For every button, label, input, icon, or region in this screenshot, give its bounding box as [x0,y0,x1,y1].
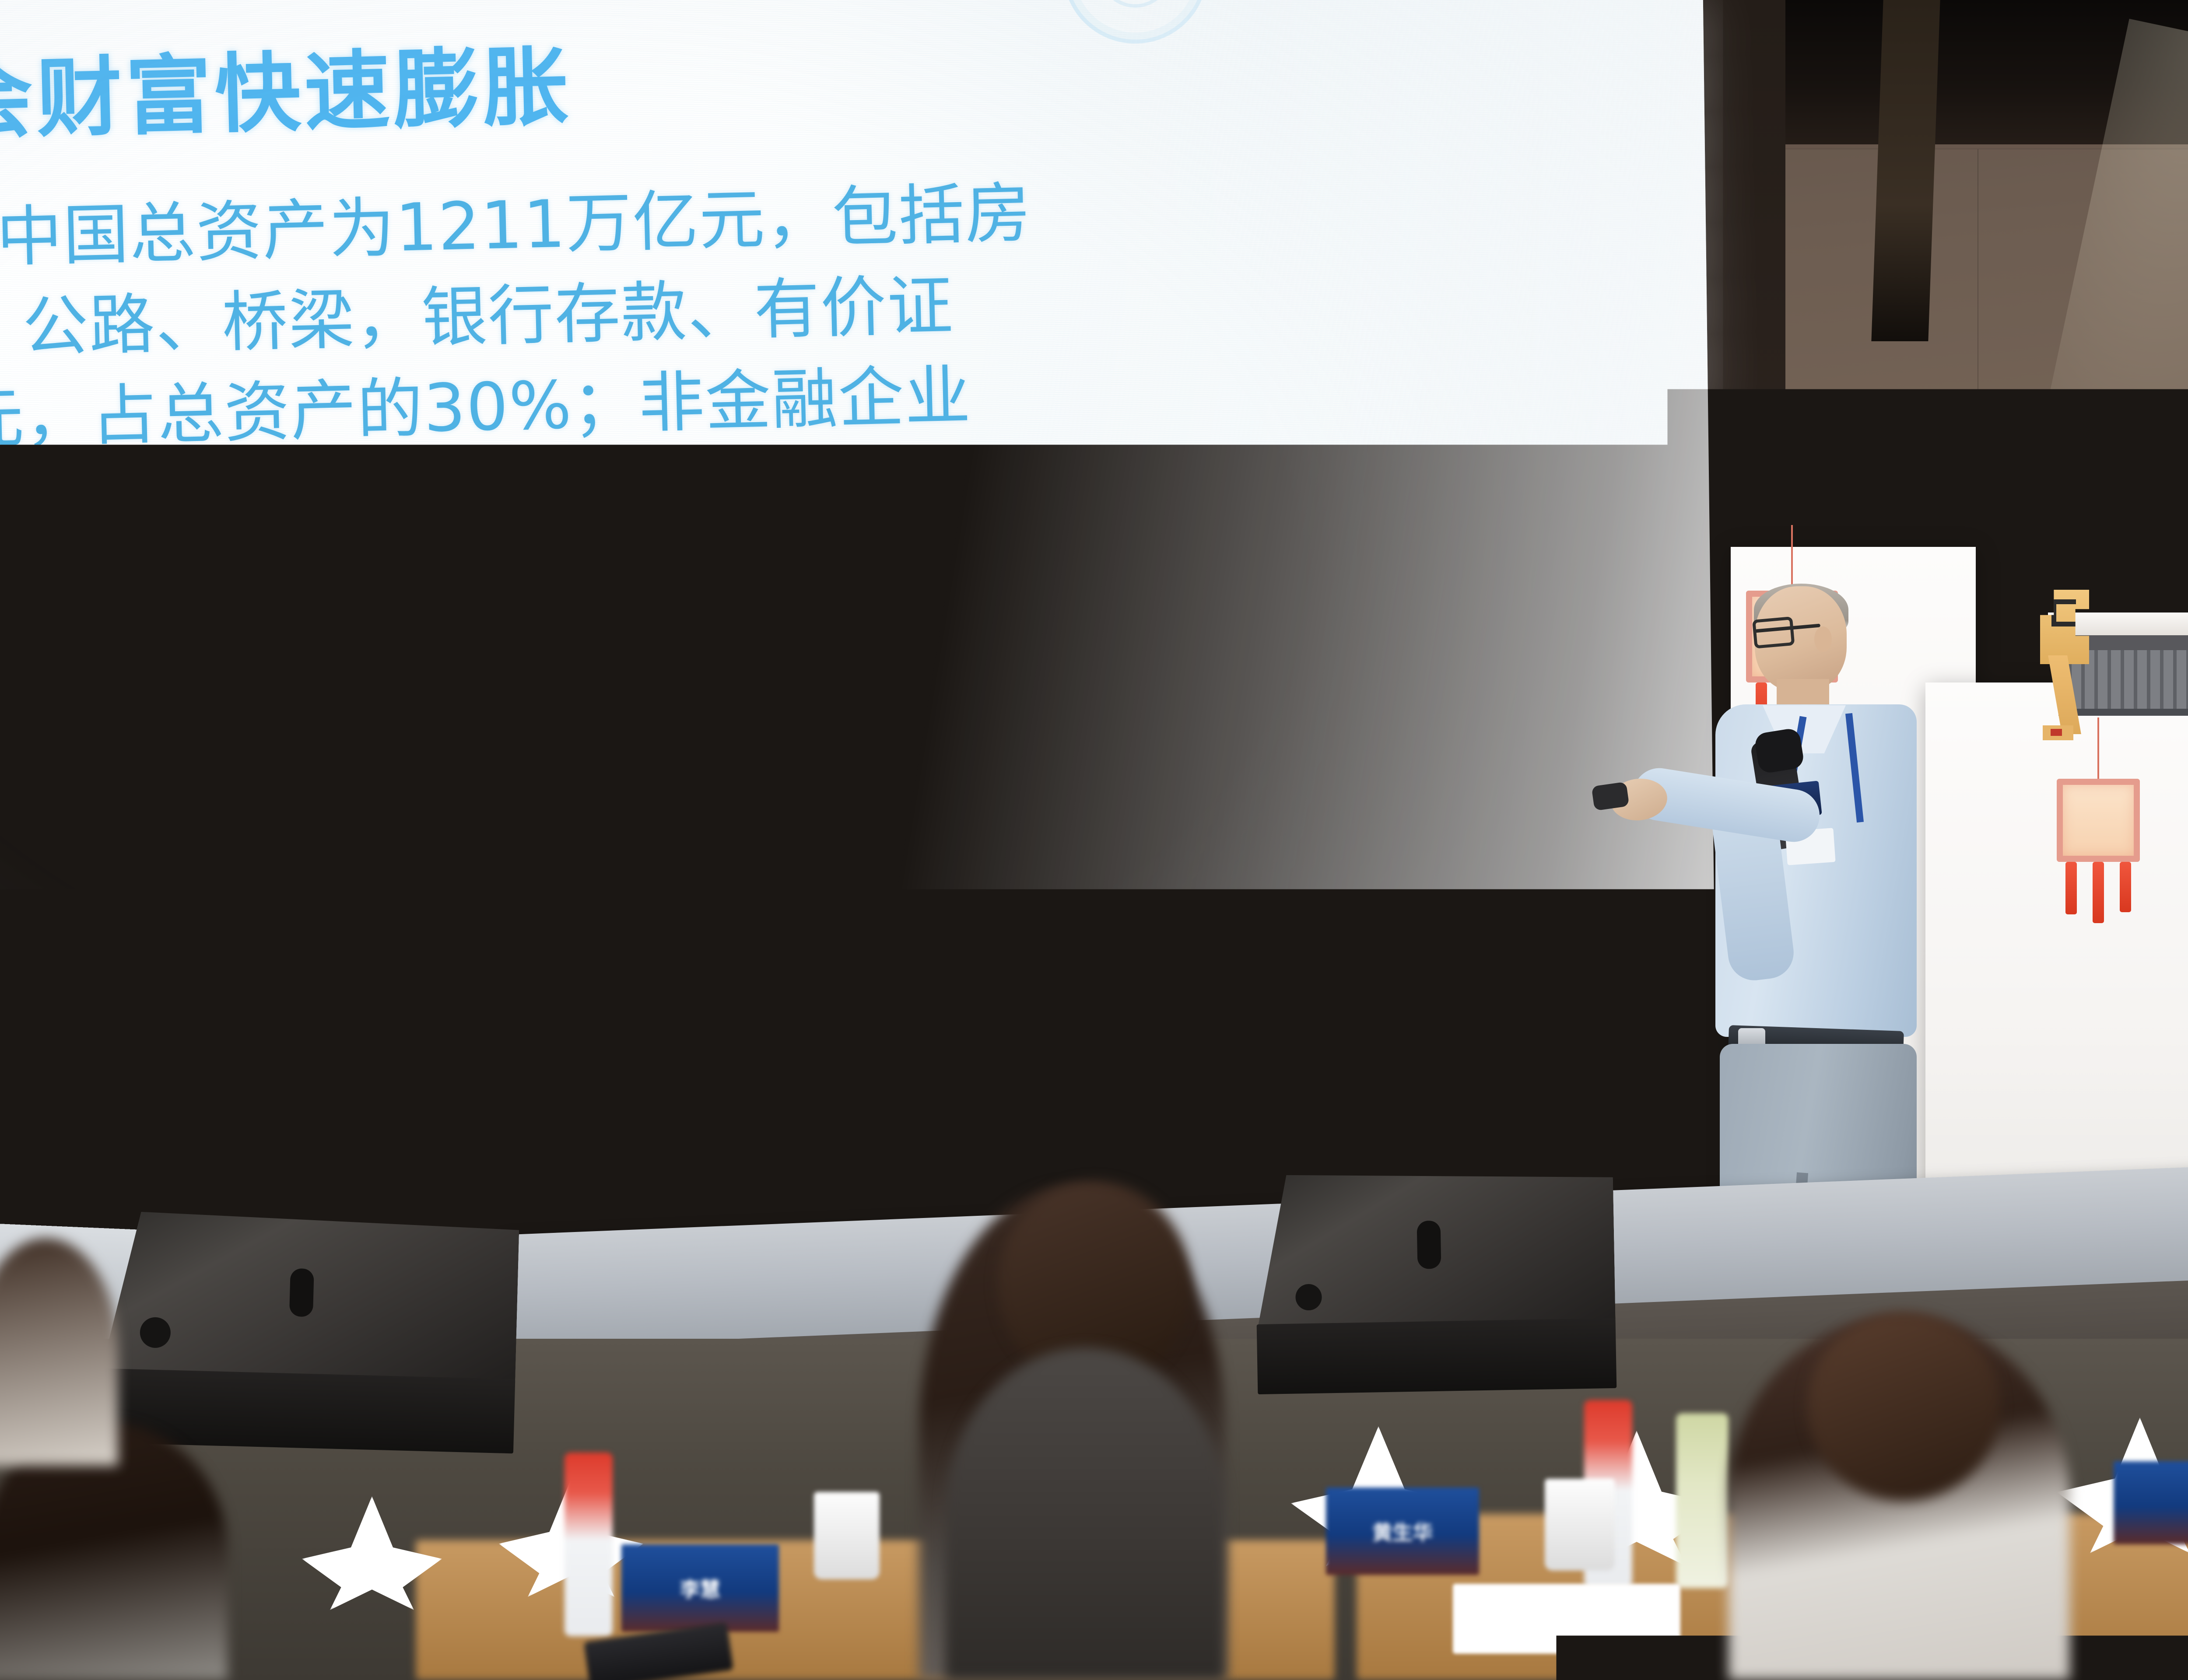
slide-title: 社会财富快速膨胀 [0,7,997,157]
audience-head [1807,1312,2000,1501]
meander-glyph-icon [2051,599,2076,626]
monitor-handle [1417,1221,1441,1269]
floor-monitor-speaker [98,1211,519,1454]
eave-bracket-left-icon [1686,397,1735,528]
monitor-cabinet [1924,1169,2188,1323]
notepad [1453,1584,1680,1654]
lantern-cord [2097,717,2099,779]
ceiling-beam [1871,0,1940,341]
placard-text: 李慧 [680,1574,720,1603]
presentation-slide: 社会财富快速膨胀 6年中国总资产为1211万亿元，包括房 路、公路、桥梁，银行存… [0,0,1710,1268]
lantern-tassel [2120,862,2131,912]
slide-line: ，2019年中国总资产已经超过1300万 [0,821,1523,950]
audience-shoulders [945,1347,1225,1680]
name-placard [2114,1461,2188,1544]
eave-bracket-left-icon [2040,590,2089,721]
monitor-handle [289,1268,314,1317]
name-placard: 黄生华 [1326,1487,1479,1575]
bracket-block [2040,590,2089,664]
eave-upper [1694,420,2188,525]
bracket-block [1686,397,1735,472]
seal-emblem-icon [1059,0,1211,47]
paper-cup [1545,1479,1615,1571]
conference-photo: 社会财富快速膨胀 6年中国总资产为1211万亿元，包括房 路、公路、桥梁，银行存… [0,0,2188,1680]
microphone-head-icon [1753,727,1805,774]
placard-text: 黄生华 [1372,1517,1433,1546]
beverage-can [1676,1413,1729,1588]
monitor-base [1257,1318,1617,1394]
meander-glyph-icon [1697,407,1722,434]
lantern-tassel [2065,862,2077,914]
lantern-body [2057,779,2140,862]
eave-tiles [1704,458,2188,523]
slide-body: 6年中国总资产为1211万亿元，包括房 路、公路、桥梁，银行存款、有价证 亿元，… [0,157,1523,950]
water-bottle [565,1452,613,1636]
slide-line: 年美国总资产超过360万亿美元，折合 [0,661,1519,790]
lantern-cord [1791,525,1793,591]
lantern-tassel [2093,862,2104,923]
university-logo: 管理学院 SCHOOL OF MANAGEMENT ZHEJIANG UNIVE… [1016,0,1591,49]
paper-cup [814,1492,880,1579]
eave-ridge [1694,420,2188,443]
lantern-square-lower [2057,717,2140,927]
monitor-handle [2073,1216,2098,1265]
name-placard: 李慧 [621,1544,779,1632]
eave-dark-band [1694,443,2188,458]
logo-english-line2: ZHEJIANG UNIVERSITY [1278,0,1731,19]
floor-monitor-speaker [1254,1169,1617,1394]
presenter-ear [1814,626,1832,652]
eave-lower [2048,612,2188,717]
bracket-tip [1688,533,1719,548]
presenter-remote[interactable] [1591,782,1629,811]
